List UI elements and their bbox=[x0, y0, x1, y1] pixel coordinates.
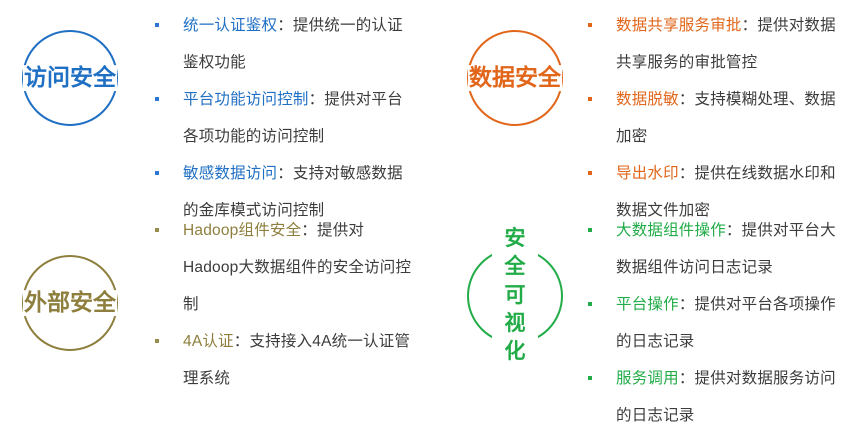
list-item-term: 服务调用 bbox=[616, 370, 679, 387]
badge-wrap-access-security: 访问安全 bbox=[0, 30, 140, 126]
circle-badge-access-security: 访问安全 bbox=[22, 30, 118, 126]
badge-label-data-security: 数据安全 bbox=[468, 65, 562, 91]
list-item-separator: ： bbox=[679, 165, 695, 182]
circle-badge-data-security: 数据安全 bbox=[467, 30, 563, 126]
list-item-term: 平台操作 bbox=[616, 296, 679, 313]
quadrant-access-security: 访问安全 统一认证鉴权：提供统一的认证鉴权功能 平台功能访问控制：提供对平台各项… bbox=[0, 0, 433, 200]
badge-wrap-security-visualization: 安全 可视化 bbox=[445, 248, 585, 344]
badge-wrap-external-security: 外部安全 bbox=[0, 255, 140, 351]
badge-label-security-visualization: 安全 可视化 bbox=[492, 224, 538, 368]
infographic-canvas: 访问安全 统一认证鉴权：提供统一的认证鉴权功能 平台功能访问控制：提供对平台各项… bbox=[0, 0, 865, 405]
bullet-list-data-security: 数据共享服务审批：提供对数据共享服务的审批管控 数据脱敏：支持模糊处理、数据加密… bbox=[582, 7, 847, 229]
quadrant-data-security: 数据安全 数据共享服务审批：提供对数据共享服务的审批管控 数据脱敏：支持模糊处理… bbox=[433, 0, 865, 200]
badge-label-access-security: 访问安全 bbox=[23, 65, 117, 91]
list-item: 平台操作：提供对平台各项操作的日志记录 bbox=[582, 286, 850, 360]
list-item-term: 数据脱敏 bbox=[616, 91, 679, 108]
list-item-term: 敏感数据访问 bbox=[183, 165, 277, 182]
bullet-list-access-security: 统一认证鉴权：提供统一的认证鉴权功能 平台功能访问控制：提供对平台各项功能的访问… bbox=[149, 7, 414, 229]
list-item: 平台功能访问控制：提供对平台各项功能的访问控制 bbox=[149, 81, 414, 155]
bullet-list-external-security: Hadoop组件安全：提供对Hadoop大数据组件的安全访问控制 4A认证：支持… bbox=[149, 212, 414, 397]
list-item: Hadoop组件安全：提供对Hadoop大数据组件的安全访问控制 bbox=[149, 212, 414, 323]
list-item-term: 4A认证 bbox=[183, 333, 234, 350]
list-item-term: Hadoop组件安全 bbox=[183, 222, 301, 239]
list-item: 数据脱敏：支持模糊处理、数据加密 bbox=[582, 81, 847, 155]
bullet-marker-icon bbox=[588, 302, 592, 306]
badge-label-external-security: 外部安全 bbox=[23, 290, 117, 316]
list-item-separator: ： bbox=[277, 165, 293, 182]
bullet-marker-icon bbox=[155, 339, 159, 343]
quadrant-external-security: 外部安全 Hadoop组件安全：提供对Hadoop大数据组件的安全访问控制 4A… bbox=[0, 200, 433, 405]
list-item-separator: ： bbox=[301, 222, 317, 239]
circle-badge-external-security: 外部安全 bbox=[22, 255, 118, 351]
list-item: 4A认证：支持接入4A统一认证管理系统 bbox=[149, 323, 414, 397]
list-item-separator: ： bbox=[679, 296, 695, 313]
bullet-marker-icon bbox=[155, 97, 159, 101]
bullet-marker-icon bbox=[155, 228, 159, 232]
list-item-term: 平台功能访问控制 bbox=[183, 91, 309, 108]
quadrant-security-visualization: 安全 可视化 大数据组件操作：提供对平台大数据组件访问日志记录 平台操作：提供对… bbox=[433, 200, 865, 405]
list-item-separator: ： bbox=[742, 17, 758, 34]
bullet-marker-icon bbox=[588, 228, 592, 232]
list-item-separator: ： bbox=[679, 91, 695, 108]
list-item-separator: ： bbox=[679, 370, 695, 387]
circle-badge-security-visualization: 安全 可视化 bbox=[467, 248, 563, 344]
bullet-marker-icon bbox=[588, 97, 592, 101]
list-item-term: 统一认证鉴权 bbox=[183, 17, 277, 34]
list-item: 统一认证鉴权：提供统一的认证鉴权功能 bbox=[149, 7, 414, 81]
bullet-marker-icon bbox=[588, 23, 592, 27]
list-item-term: 导出水印 bbox=[616, 165, 679, 182]
bullet-marker-icon bbox=[588, 376, 592, 380]
list-item: 服务调用：提供对数据服务访问的日志记录 bbox=[582, 360, 850, 434]
badge-wrap-data-security: 数据安全 bbox=[445, 30, 585, 126]
list-item: 数据共享服务审批：提供对数据共享服务的审批管控 bbox=[582, 7, 847, 81]
list-item-separator: ： bbox=[726, 222, 742, 239]
bullet-marker-icon bbox=[588, 171, 592, 175]
bullet-marker-icon bbox=[155, 171, 159, 175]
list-item-separator: ： bbox=[309, 91, 325, 108]
list-item-separator: ： bbox=[234, 333, 250, 350]
list-item-term: 数据共享服务审批 bbox=[616, 17, 742, 34]
list-item-separator: ： bbox=[277, 17, 293, 34]
list-item-term: 大数据组件操作 bbox=[616, 222, 726, 239]
bullet-marker-icon bbox=[155, 23, 159, 27]
list-item: 大数据组件操作：提供对平台大数据组件访问日志记录 bbox=[582, 212, 850, 286]
bullet-list-security-visualization: 大数据组件操作：提供对平台大数据组件访问日志记录 平台操作：提供对平台各项操作的… bbox=[582, 212, 850, 434]
